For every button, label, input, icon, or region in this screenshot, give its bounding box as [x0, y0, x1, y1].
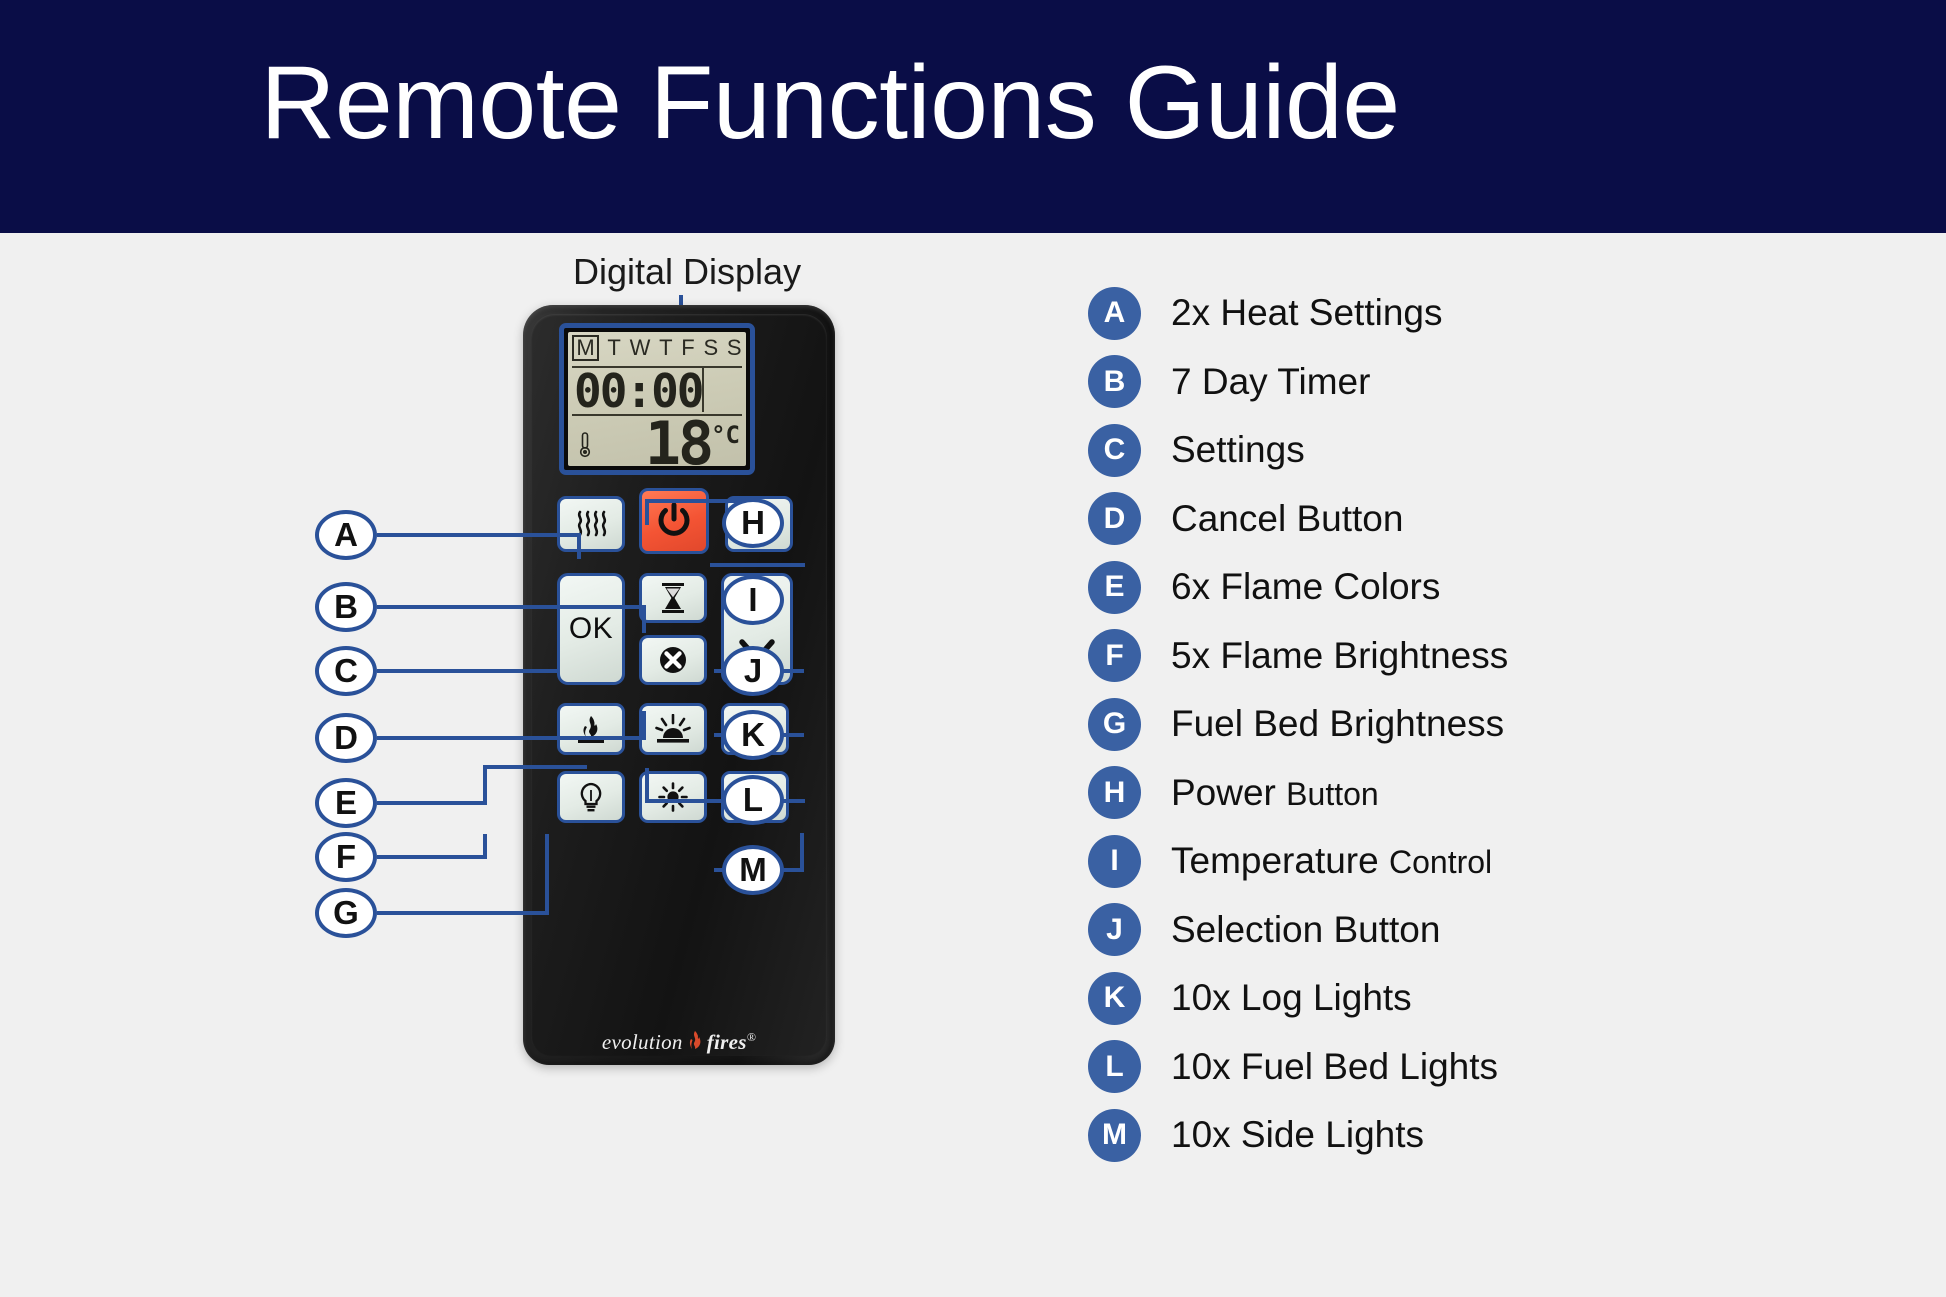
legend-badge-h: H	[1088, 766, 1141, 819]
diagram-stage: Digital Display M T W T F S S	[0, 233, 1946, 1297]
leader-d-horizontal	[377, 736, 646, 740]
lcd-surface: M T W T F S S 00:00 18°C	[568, 332, 746, 466]
remote-control-illustration: M T W T F S S 00:00 18°C	[523, 305, 835, 1065]
lcd-temperature-unit: °C	[711, 421, 740, 449]
legend-badge-j: J	[1088, 903, 1141, 956]
legend-item-j[interactable]: J Selection Button	[1088, 896, 1648, 965]
leader-l-vertical	[645, 768, 649, 802]
remote-functions-guide-page: Remote Functions Guide Digital Display M…	[0, 0, 1946, 1297]
legend-label-a: 2x Heat Settings	[1171, 292, 1442, 334]
button-fuel-bed-brightness[interactable]	[639, 771, 707, 823]
lcd-divider-vertical	[702, 368, 704, 412]
hourglass-icon	[660, 582, 686, 614]
leader-e-horizontal-upper	[483, 765, 587, 769]
lcd-weekday-row: M T W T F S S	[568, 335, 746, 361]
lcd-day-fri: F	[681, 337, 694, 359]
legend-item-g[interactable]: G Fuel Bed Brightness	[1088, 690, 1648, 759]
lcd-day-thu: T	[659, 337, 672, 359]
lcd-temperature-value: 18°C	[645, 414, 740, 466]
brand-name-primary: evolution	[602, 1030, 683, 1054]
sunburst-icon	[655, 714, 691, 744]
legend-list: A 2x Heat Settings B 7 Day Timer C Setti…	[1088, 279, 1648, 1170]
callout-marker-g[interactable]: G	[315, 888, 377, 938]
leader-e-horizontal-lower	[377, 801, 487, 805]
legend-label-c: Settings	[1171, 429, 1305, 471]
legend-label-h-sub: Button	[1286, 776, 1379, 812]
leader-b-vertical	[642, 605, 646, 633]
legend-item-a[interactable]: A 2x Heat Settings	[1088, 279, 1648, 348]
legend-label-d: Cancel Button	[1171, 498, 1403, 540]
callout-marker-f[interactable]: F	[315, 832, 377, 882]
legend-label-h-main: Power	[1171, 772, 1276, 813]
button-ok-label: OK	[569, 612, 613, 646]
brand-registered-mark: ®	[747, 1030, 756, 1044]
lcd-clock-value: 00:00	[574, 368, 702, 414]
leader-c-horizontal	[377, 669, 557, 673]
brand-logo: evolutionfires®	[523, 1030, 835, 1055]
page-header-banner: Remote Functions Guide	[0, 0, 1946, 233]
callout-marker-j[interactable]: J	[722, 646, 784, 696]
legend-badge-f: F	[1088, 629, 1141, 682]
legend-badge-k: K	[1088, 972, 1141, 1025]
leader-m-vertical	[800, 833, 804, 872]
legend-badge-g: G	[1088, 698, 1141, 751]
lcd-temperature-number: 18	[645, 409, 711, 466]
brand-name-secondary: fires	[707, 1030, 747, 1054]
legend-item-k[interactable]: K 10x Log Lights	[1088, 964, 1648, 1033]
legend-badge-d: D	[1088, 492, 1141, 545]
legend-item-e[interactable]: E 6x Flame Colors	[1088, 553, 1648, 622]
legend-label-k: 10x Log Lights	[1171, 977, 1412, 1019]
leader-e-vertical	[483, 765, 487, 805]
legend-label-e: 6x Flame Colors	[1171, 566, 1440, 608]
lcd-day-sun: S	[727, 337, 742, 359]
callout-marker-k[interactable]: K	[722, 710, 784, 760]
leader-d-vertical	[642, 711, 646, 739]
legend-item-f[interactable]: F 5x Flame Brightness	[1088, 622, 1648, 691]
legend-badge-i: I	[1088, 835, 1141, 888]
leader-g-horizontal	[377, 911, 549, 915]
digital-display-caption: Digital Display	[573, 251, 801, 293]
leader-i-horizontal	[710, 563, 805, 567]
button-flame-colors[interactable]	[557, 703, 625, 755]
callout-marker-i[interactable]: I	[722, 575, 784, 625]
cancel-cross-icon	[658, 645, 688, 675]
lcd-day-sat: S	[703, 337, 718, 359]
legend-badge-e: E	[1088, 561, 1141, 614]
legend-label-l: 10x Fuel Bed Lights	[1171, 1046, 1498, 1088]
legend-badge-b: B	[1088, 355, 1141, 408]
legend-label-i-sub: Control	[1389, 844, 1492, 880]
callout-marker-m[interactable]: M	[722, 845, 784, 895]
leader-g-vertical	[545, 834, 549, 915]
lcd-day-tue: T	[607, 337, 620, 359]
page-title: Remote Functions Guide	[0, 28, 1660, 178]
legend-badge-a: A	[1088, 287, 1141, 340]
legend-item-b[interactable]: B 7 Day Timer	[1088, 348, 1648, 417]
button-flame-brightness[interactable]	[557, 771, 625, 823]
leader-f-vertical	[483, 834, 487, 859]
legend-item-l[interactable]: L 10x Fuel Bed Lights	[1088, 1033, 1648, 1102]
legend-item-d[interactable]: D Cancel Button	[1088, 485, 1648, 554]
leader-b-horizontal	[377, 605, 646, 609]
lcd-day-mon: M	[572, 335, 598, 361]
leader-h-vertical	[645, 499, 649, 525]
button-power[interactable]	[639, 488, 709, 554]
legend-badge-c: C	[1088, 424, 1141, 477]
callout-marker-c[interactable]: C	[315, 646, 377, 696]
button-cancel[interactable]	[639, 635, 707, 685]
legend-item-i[interactable]: I Temperature Control	[1088, 827, 1648, 896]
leader-a-vertical	[577, 533, 581, 559]
callout-marker-a[interactable]: A	[315, 510, 377, 560]
callout-marker-d[interactable]: D	[315, 713, 377, 763]
leader-a-horizontal	[377, 533, 581, 537]
flame-icon	[575, 713, 607, 745]
button-fuel-bed-lights[interactable]	[639, 703, 707, 755]
legend-label-b: 7 Day Timer	[1171, 361, 1370, 403]
legend-label-h: Power Button	[1171, 772, 1379, 814]
button-heat-settings[interactable]	[557, 496, 625, 552]
legend-label-g: Fuel Bed Brightness	[1171, 703, 1504, 745]
flame-logo-icon	[686, 1030, 704, 1052]
leader-h-horizontal	[645, 499, 745, 503]
digital-display-screen: M T W T F S S 00:00 18°C	[559, 323, 755, 475]
legend-badge-l: L	[1088, 1040, 1141, 1093]
legend-badge-m: M	[1088, 1109, 1141, 1162]
bulb-icon	[577, 781, 605, 813]
power-icon	[655, 502, 693, 540]
callout-marker-b[interactable]: B	[315, 582, 377, 632]
lcd-day-wed: W	[630, 337, 651, 359]
legend-label-m: 10x Side Lights	[1171, 1114, 1424, 1156]
legend-label-i: Temperature Control	[1171, 840, 1492, 882]
callout-marker-e[interactable]: E	[315, 778, 377, 828]
legend-item-c[interactable]: C Settings	[1088, 416, 1648, 485]
callout-marker-l[interactable]: L	[722, 775, 784, 825]
sun-dot-icon	[657, 781, 689, 813]
leader-f-horizontal	[377, 855, 487, 859]
thermometer-icon	[578, 432, 592, 458]
legend-item-m[interactable]: M 10x Side Lights	[1088, 1101, 1648, 1170]
button-timer[interactable]	[639, 573, 707, 623]
legend-label-i-main: Temperature	[1171, 840, 1379, 881]
legend-label-f: 5x Flame Brightness	[1171, 635, 1508, 677]
legend-label-j: Selection Button	[1171, 909, 1440, 951]
button-ok-settings[interactable]: OK	[557, 573, 625, 685]
callout-marker-h[interactable]: H	[722, 498, 784, 548]
legend-item-h[interactable]: H Power Button	[1088, 759, 1648, 828]
